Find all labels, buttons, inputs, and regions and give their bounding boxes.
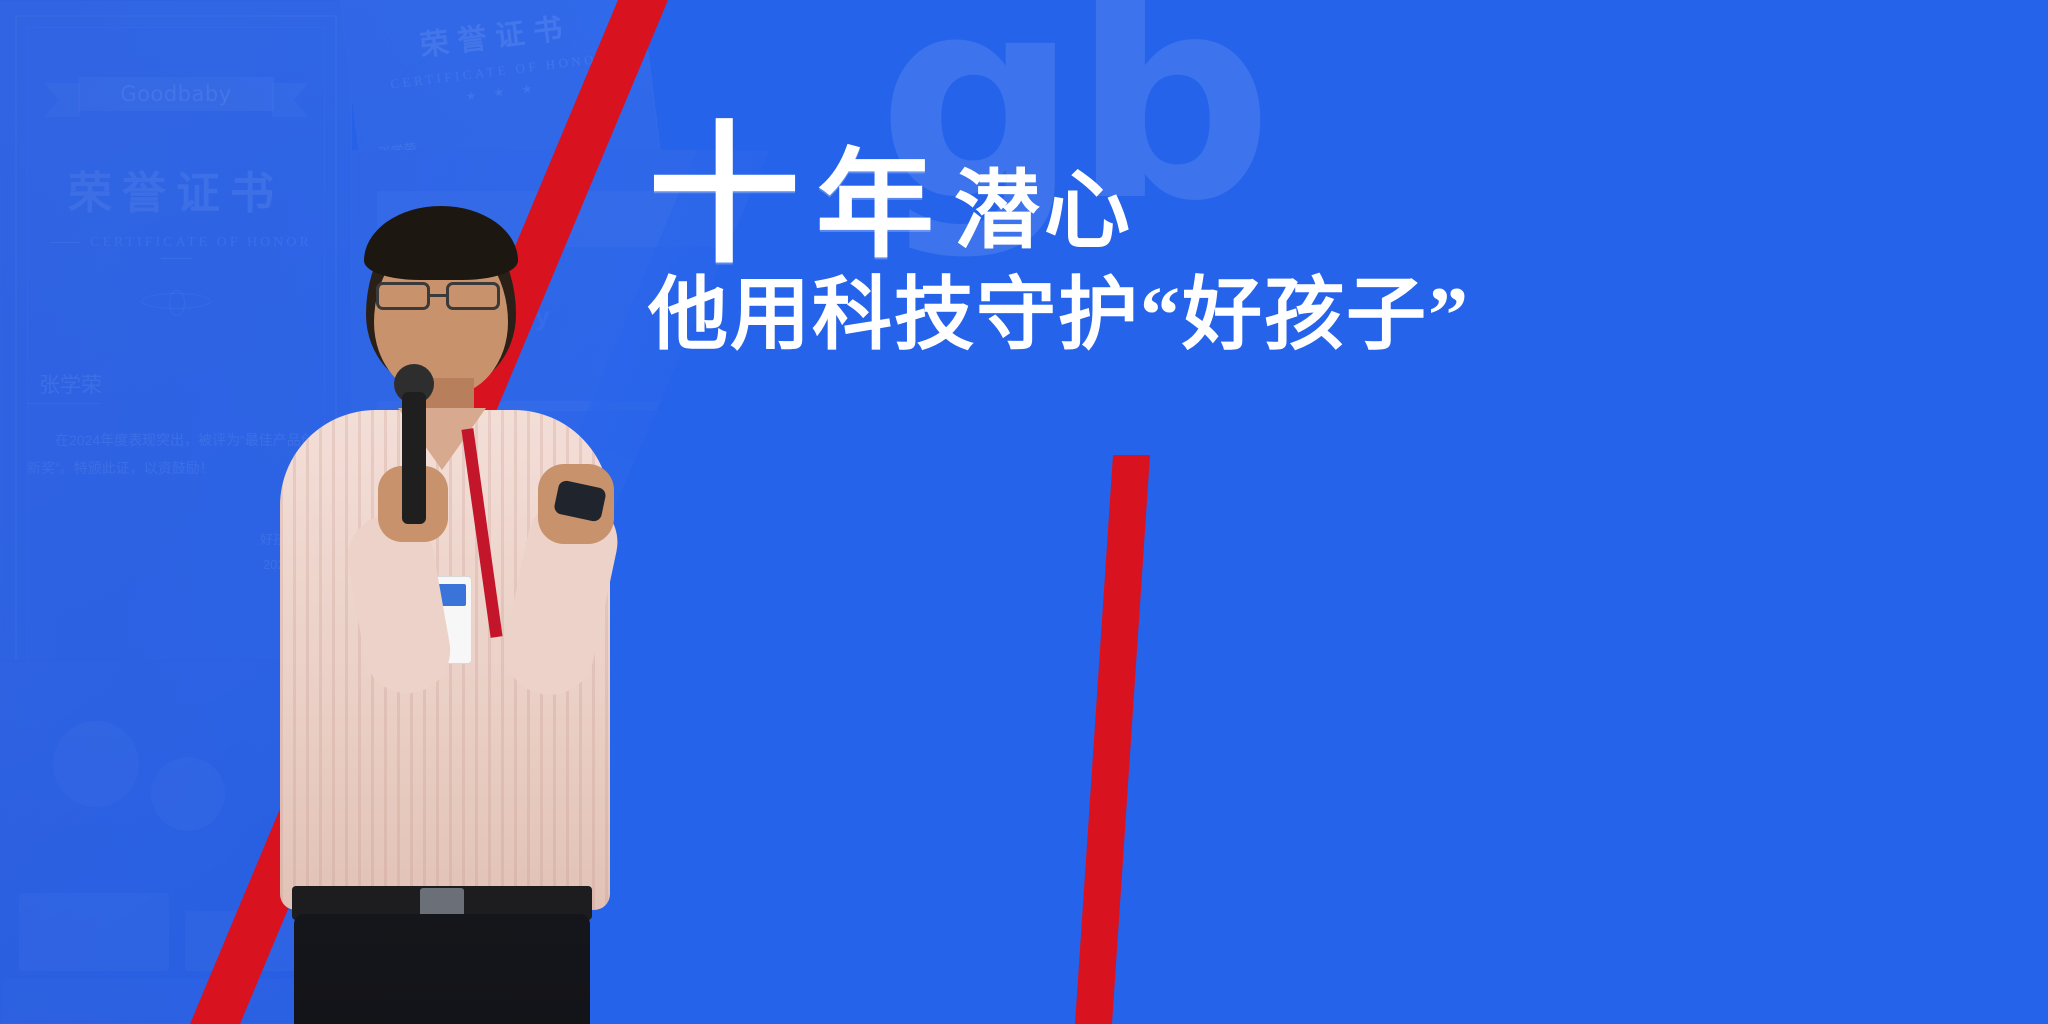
headline-line2: 他用科技守护“好孩子”: [648, 272, 1348, 362]
headline-char-shi: 十: [648, 128, 806, 268]
headline-word-qianxin: 潜心: [954, 168, 1134, 268]
speaker-foreground-photo: [270, 196, 640, 1024]
headline-block: 十 年 潜心 他用科技守护“好孩子”: [648, 128, 1348, 361]
headline-char-nian: 年: [816, 153, 940, 268]
hero-banner: Goodbaby 荣誉证书 CERTIFICATE OF HONOR 张学荣 在…: [0, 0, 2048, 1024]
